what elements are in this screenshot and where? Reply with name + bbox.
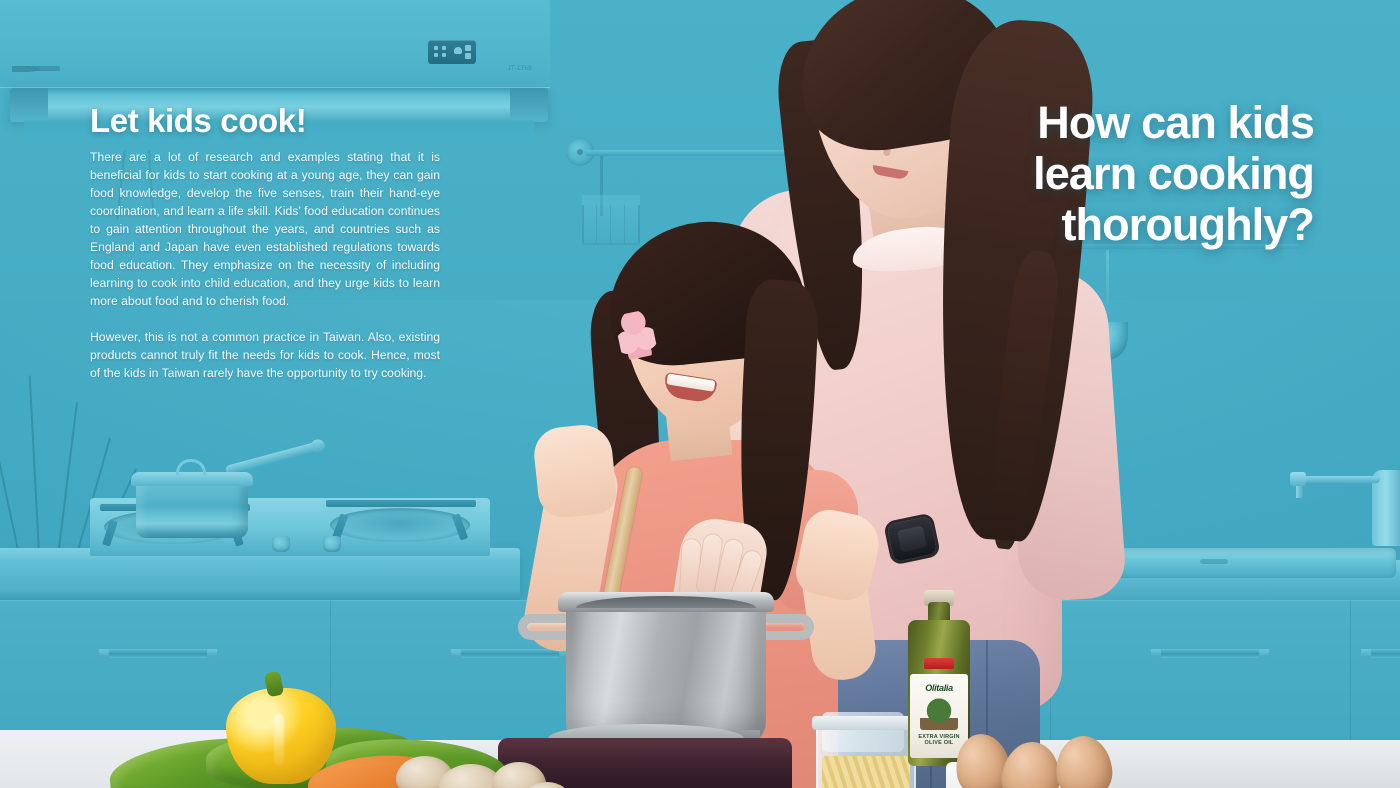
body-copy: There are a lot of research and examples…: [90, 148, 440, 382]
poster-canvas: JT-1769: [0, 0, 1400, 788]
right-headline-line-2: learn cooking: [834, 149, 1314, 200]
left-headline: Let kids cook!: [90, 104, 306, 137]
right-headline: How can kids learn cooking thoroughly?: [834, 98, 1314, 251]
body-paragraph-2: However, this is not a common practice i…: [90, 328, 440, 382]
text-overlay: Let kids cook! There are a lot of resear…: [0, 0, 1400, 788]
body-paragraph-1: There are a lot of research and examples…: [90, 148, 440, 310]
right-headline-line-1: How can kids: [834, 98, 1314, 149]
right-headline-line-3: thoroughly?: [834, 200, 1314, 251]
